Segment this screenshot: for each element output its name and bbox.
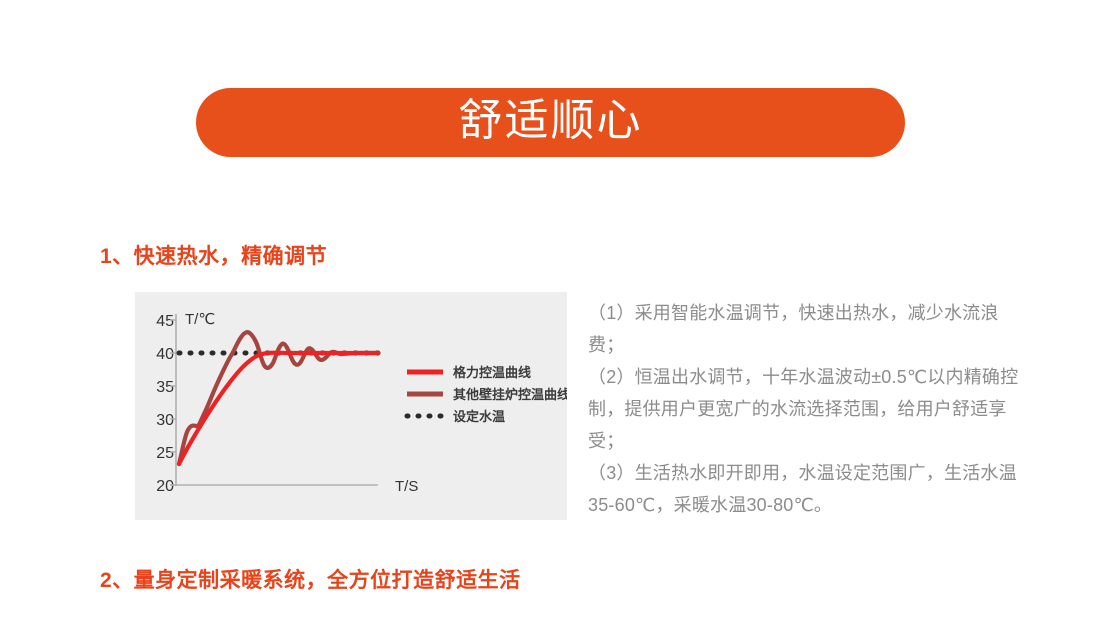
ytick-label-30: 30 (156, 412, 174, 429)
legend-label-setpoint: 设定水温 (453, 409, 505, 424)
page-title: 舒适顺心 (459, 99, 643, 146)
legend-label-gree: 格力控温曲线 (453, 365, 531, 380)
title-banner: 舒适顺心 (196, 88, 905, 157)
ytick-label-40: 40 (156, 346, 174, 363)
section-heading-1: 1、快速热水，精确调节 (100, 240, 327, 270)
x-axis-caption: T/S (395, 478, 418, 495)
legend-label-other-boiler: 其他壁挂炉控温曲线 (453, 387, 567, 402)
temperature-control-chart: 45 40 35 30 25 20 T/℃ T/S (135, 292, 567, 520)
section-heading-2: 2、量身定制采暖系统，全方位打造舒适生活 (100, 564, 521, 594)
feature-paragraph-2: （2）恒温出水调节，十年水温波动±0.5℃以内精确控制，提供用户更宽广的水流选择… (588, 361, 1023, 457)
feature-description-block: （1）采用智能水温调节，快速出热水，减少水流浪费； （2）恒温出水调节，十年水温… (588, 297, 1023, 521)
y-axis-caption: T/℃ (185, 311, 215, 328)
ytick-label-25: 25 (156, 445, 174, 462)
feature-paragraph-3: （3）生活热水即开即用，水温设定范围广，生活水温35-60℃，采暖水温30-80… (588, 457, 1023, 521)
slide-page: 舒适顺心 1、快速热水，精确调节 45 40 35 30 25 20 (0, 0, 1100, 644)
feature-paragraph-1: （1）采用智能水温调节，快速出热水，减少水流浪费； (588, 297, 1023, 361)
ytick-label-35: 35 (156, 379, 174, 396)
temperature-chart-panel: 45 40 35 30 25 20 T/℃ T/S (135, 292, 567, 520)
ytick-label-45: 45 (156, 313, 174, 330)
ytick-label-20: 20 (156, 478, 174, 495)
chart-legend: 格力控温曲线 其他壁挂炉控温曲线 设定水温 (407, 365, 567, 424)
